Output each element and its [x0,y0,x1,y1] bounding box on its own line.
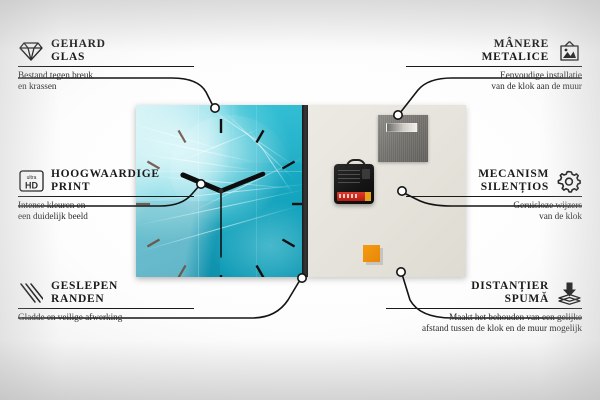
feature-rule [406,196,582,197]
feature-hoogwaardige-print[interactable]: ultra HD HOOGWAARDIGE PRINT Intense kleu… [18,168,194,223]
feature-subtitle-line1: Eenvoudige installatie [406,70,582,81]
foam-spacer [363,245,380,262]
feature-title-line1: GESLEPEN [51,280,118,293]
gear-icon [556,169,582,193]
feature-subtitle-line1: Gladde en veilige afwerking [18,312,194,323]
beveled-edges-icon [18,281,44,305]
feature-title-line1: HOOGWAARDIGE [51,168,160,181]
battery [337,192,371,201]
feature-gehard-glas[interactable]: GEHARD GLAS Bestand tegen breuk en krass… [18,38,194,93]
feature-title-line1: MÂNERE [482,38,549,51]
movement-label [338,169,360,183]
feature-title-line2: GLAS [51,51,106,64]
feature-distantier-spuma[interactable]: DISTANȚIER SPUMĂ Maakt het behouden van … [386,280,582,335]
feature-title-line2: PRINT [51,181,160,194]
metal-hanger-plate [378,115,428,162]
feature-geslepen-randen[interactable]: GESLEPEN RANDEN Gladde en veilige afwerk… [18,280,194,323]
hanger-slot [386,123,418,132]
feature-title-line1: MECANISM [478,168,549,181]
feature-title-line1: DISTANȚIER [471,280,549,293]
spacer-down-arrow-icon [556,281,582,305]
feature-title-line2: RANDEN [51,293,118,306]
feature-rule [18,308,194,309]
ultra-hd-icon: ultra HD [18,169,44,193]
feature-title-line1: GEHARD [51,38,106,51]
feature-subtitle-line2: een duidelijk beeld [18,211,194,222]
clock-movement-box [334,164,374,204]
feature-rule [386,308,582,309]
diamond-icon [18,39,44,63]
feature-mecanism-silentios[interactable]: MECANISM SILENȚIOS Geruisloze wijzers va… [406,168,582,223]
feature-subtitle-line1: Maakt het behouden van een gelijke [386,312,582,323]
feature-title-line2: SILENȚIOS [478,181,549,194]
product-infographic: GEHARD GLAS Bestand tegen breuk en krass… [0,0,600,400]
battery-label [339,194,359,198]
feature-title-line2: SPUMĂ [471,293,549,306]
svg-text:HD: HD [25,181,38,191]
feature-subtitle-line2: afstand tussen de klok en de muur mogeli… [386,323,582,334]
feature-subtitle-line2: en krassen [18,81,194,92]
feature-manere-metalice[interactable]: MÂNERE METALICE Eenvoudige installatie v… [406,38,582,93]
feature-rule [18,196,194,197]
feature-title-line2: METALICE [482,51,549,64]
battery-terminal [365,192,371,201]
wall-mount-frame-icon [556,39,582,63]
feature-rule [406,66,582,67]
feature-subtitle-line1: Bestand tegen breuk [18,70,194,81]
movement-hanging-loop [346,159,366,169]
movement-knob [362,169,370,179]
feature-subtitle-line2: van de klok aan de muur [406,81,582,92]
feature-subtitle-line1: Intense kleuren en [18,200,194,211]
feature-rule [18,66,194,67]
feature-subtitle-line1: Geruisloze wijzers [406,200,582,211]
feature-subtitle-line2: van de klok [406,211,582,222]
